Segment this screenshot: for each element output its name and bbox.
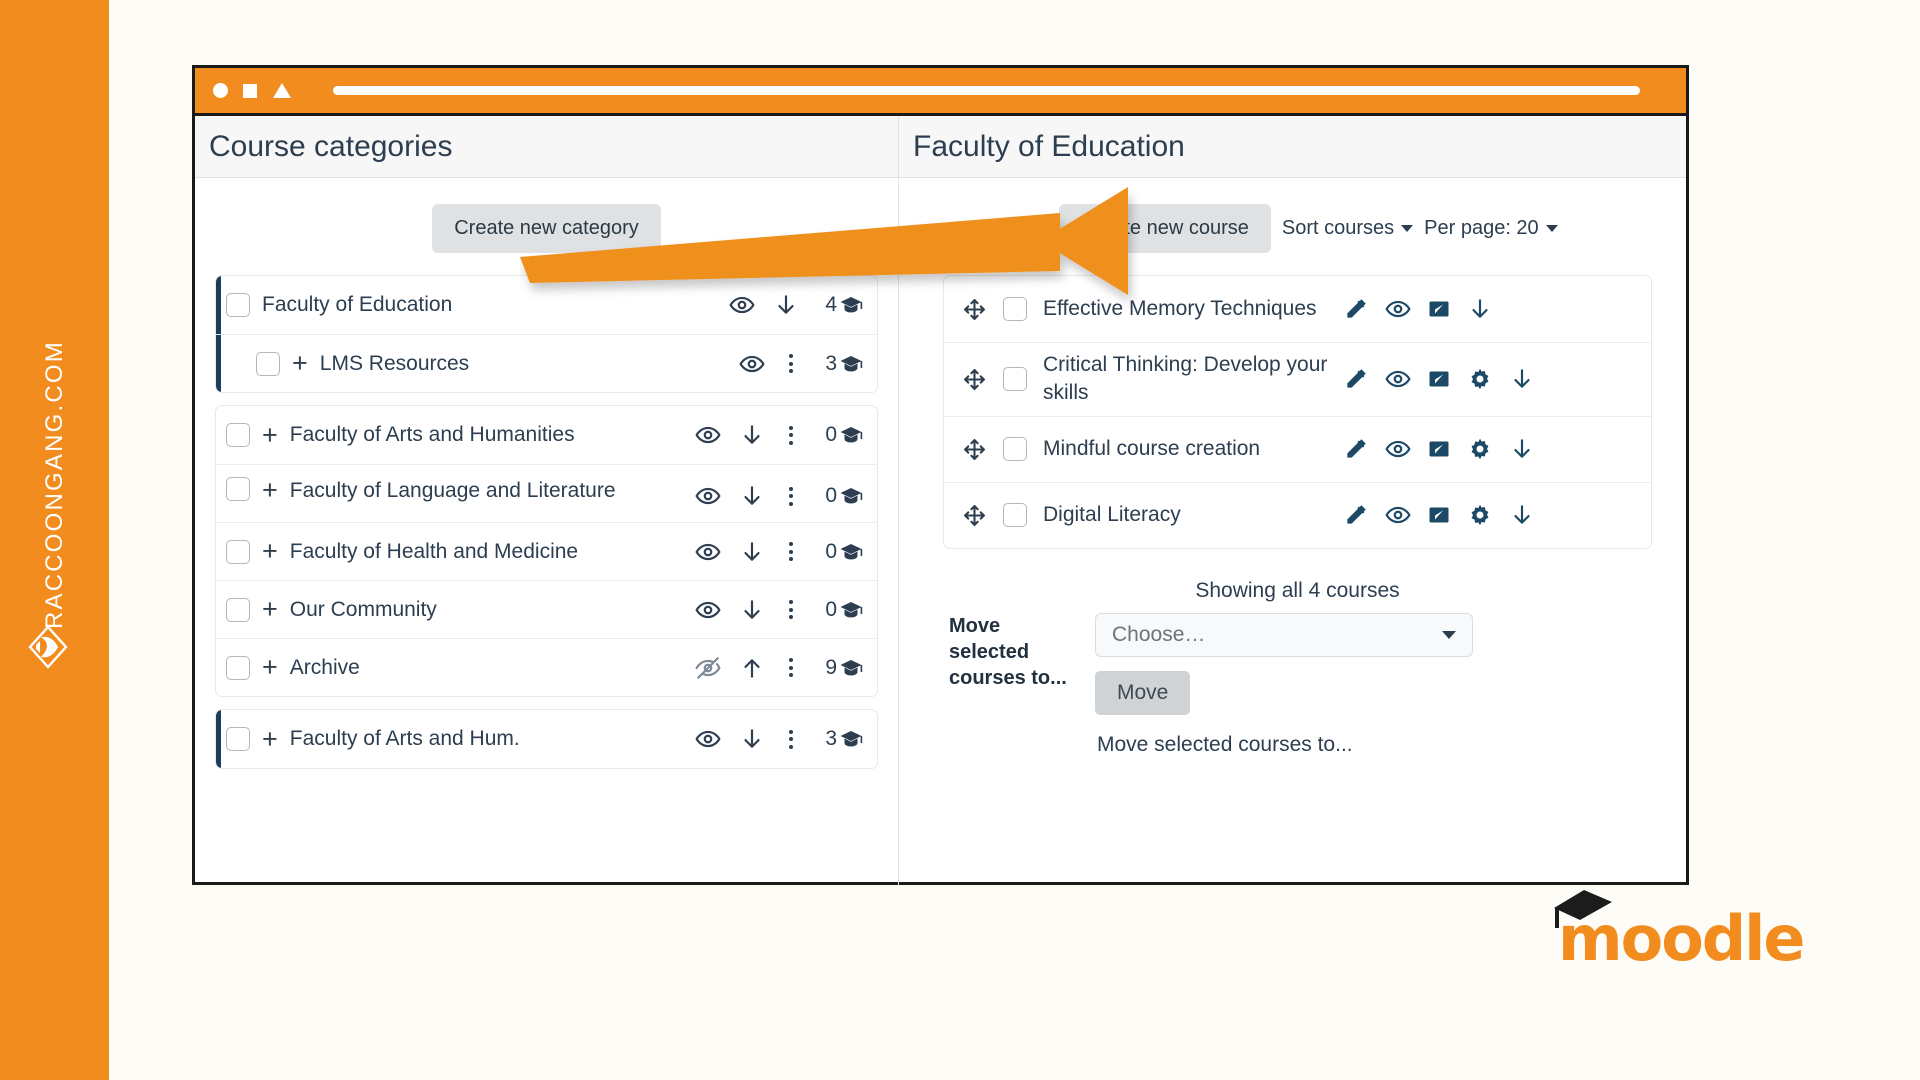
triangle-icon — [273, 83, 291, 98]
move-down-icon[interactable] — [739, 539, 765, 565]
category-checkbox[interactable] — [226, 598, 250, 622]
circle-icon — [213, 83, 228, 98]
move-down-icon[interactable] — [739, 483, 765, 509]
pencil-icon[interactable] — [1343, 296, 1369, 322]
course-row[interactable]: Mindful course creation — [944, 416, 1651, 482]
category-name-label: LMS Resources — [320, 350, 739, 378]
category-actions: 4 — [729, 292, 863, 318]
course-count: 0 — [817, 484, 863, 508]
category-actions: 0 — [695, 422, 863, 448]
category-row[interactable]: +LMS Resources3 — [216, 334, 877, 392]
site-brand-text: RACCOONGANG.COM — [41, 340, 69, 629]
per-page-dropdown[interactable]: Per page: 20 — [1424, 217, 1558, 240]
move-selected-label: Move selected courses to... — [949, 613, 1081, 691]
left-pane-header: Course categories — [195, 116, 898, 178]
expand-icon[interactable]: + — [262, 422, 278, 449]
graduation-cap-icon — [839, 294, 863, 316]
course-count-value: 0 — [825, 540, 837, 564]
more-actions-icon[interactable] — [783, 540, 799, 563]
drag-handle-icon[interactable] — [962, 437, 987, 462]
move-target-value: Choose… — [1112, 623, 1205, 647]
graduation-cap-icon — [839, 424, 863, 446]
course-actions — [1343, 436, 1535, 462]
category-row[interactable]: Faculty of Education4 — [216, 276, 877, 334]
create-new-category-button[interactable]: Create new category — [432, 204, 661, 253]
category-actions: 0 — [695, 597, 863, 623]
course-count: 9 — [817, 656, 863, 680]
eye-icon[interactable] — [1385, 436, 1411, 462]
category-name-label: Faculty of Health and Medicine — [290, 538, 695, 566]
course-row[interactable]: Digital Literacy — [944, 482, 1651, 548]
category-actions: 3 — [695, 726, 863, 752]
eye-icon[interactable] — [695, 422, 721, 448]
category-row[interactable]: +Archive9 — [216, 638, 877, 696]
course-checkbox[interactable] — [1003, 437, 1027, 461]
eye-icon[interactable] — [739, 351, 765, 377]
right-toolbar: Create new course Sort courses Per page:… — [899, 178, 1686, 275]
category-checkbox[interactable] — [226, 727, 250, 751]
square-icon — [243, 84, 257, 98]
right-pane-header: Faculty of Education — [899, 116, 1686, 178]
course-checkbox[interactable] — [1003, 367, 1027, 391]
category-name-label: Faculty of Arts and Hum. — [290, 725, 695, 753]
chevron-down-icon — [1401, 225, 1413, 232]
content-panes: Course categories Create new category Fa… — [195, 116, 1686, 885]
course-actions — [1343, 502, 1535, 528]
expand-icon[interactable]: + — [262, 726, 278, 753]
category-row[interactable]: +Our Community0 — [216, 580, 877, 638]
browser-window: Course categories Create new category Fa… — [192, 65, 1689, 885]
course-actions — [1343, 366, 1535, 392]
chevron-down-icon — [1546, 225, 1558, 232]
diamond-swirl-logo-icon — [28, 625, 68, 669]
expand-icon[interactable]: + — [262, 596, 278, 623]
category-list: Faculty of Education4+LMS Resources3+Fac… — [195, 275, 898, 769]
course-count-value: 0 — [825, 484, 837, 508]
course-count-value: 0 — [825, 423, 837, 447]
eye-icon[interactable] — [1385, 296, 1411, 322]
browser-titlebar — [195, 68, 1686, 116]
duplicate-icon[interactable] — [1427, 297, 1451, 321]
category-checkbox[interactable] — [226, 423, 250, 447]
faculty-courses-pane: Faculty of Education Create new course S… — [899, 116, 1686, 885]
create-new-course-button[interactable]: Create new course — [1059, 204, 1271, 253]
category-checkbox[interactable] — [256, 352, 280, 376]
category-name-label: Faculty of Language and Literature — [290, 477, 695, 505]
per-page-label: Per page: 20 — [1424, 217, 1539, 240]
pencil-icon[interactable] — [1343, 366, 1369, 392]
course-count-value: 3 — [825, 727, 837, 751]
graduation-cap-icon — [839, 657, 863, 679]
eye-icon[interactable] — [695, 483, 721, 509]
pencil-icon[interactable] — [1343, 502, 1369, 528]
course-count: 4 — [817, 293, 863, 317]
eye-icon[interactable] — [1385, 366, 1411, 392]
expand-icon[interactable]: + — [262, 654, 278, 681]
eye-icon[interactable] — [695, 726, 721, 752]
more-actions-icon[interactable] — [783, 728, 799, 751]
drag-handle-icon[interactable] — [962, 367, 987, 392]
eye-icon[interactable] — [1385, 502, 1411, 528]
graduation-cap-icon — [1550, 886, 1614, 932]
sort-courses-label: Sort courses — [1282, 217, 1394, 240]
category-checkbox[interactable] — [226, 477, 250, 501]
move-down-icon[interactable] — [773, 292, 799, 318]
category-group: Faculty of Education4+LMS Resources3 — [215, 275, 878, 393]
course-count: 0 — [817, 540, 863, 564]
course-list: Effective Memory TechniquesCritical Thin… — [943, 275, 1652, 549]
down-arrow-icon[interactable] — [1467, 296, 1493, 322]
more-actions-icon[interactable] — [783, 656, 799, 679]
category-group: +Faculty of Arts and Humanities0+Faculty… — [215, 405, 878, 697]
duplicate-icon[interactable] — [1427, 503, 1451, 527]
expand-icon[interactable]: + — [262, 477, 278, 504]
move-up-icon[interactable] — [739, 655, 765, 681]
showing-count-text: Showing all 4 courses — [943, 579, 1652, 603]
down-arrow-icon[interactable] — [1509, 502, 1535, 528]
move-down-icon[interactable] — [739, 726, 765, 752]
move-down-icon[interactable] — [739, 597, 765, 623]
course-count: 3 — [817, 727, 863, 751]
course-count-value: 3 — [825, 352, 837, 376]
category-group: +Faculty of Arts and Hum.3 — [215, 709, 878, 769]
course-checkbox[interactable] — [1003, 297, 1027, 321]
category-actions: 9 — [695, 655, 863, 681]
course-categories-pane: Course categories Create new category Fa… — [195, 116, 899, 885]
course-row[interactable]: Effective Memory Techniques — [944, 276, 1651, 342]
course-count-value: 0 — [825, 598, 837, 622]
category-name-label: Faculty of Education — [262, 291, 729, 319]
category-title: Faculty of Education — [913, 130, 1185, 164]
category-name-label: Faculty of Arts and Humanities — [290, 421, 695, 449]
graduation-cap-icon — [839, 541, 863, 563]
eye-icon[interactable] — [729, 292, 755, 318]
expand-icon[interactable]: + — [292, 350, 308, 377]
course-count-value: 9 — [825, 656, 837, 680]
move-note-text: Move selected courses to... — [1097, 733, 1652, 757]
move-fields: Choose… Move Move selected courses to... — [1081, 613, 1652, 757]
more-actions-icon[interactable] — [783, 424, 799, 447]
category-name-label: Archive — [290, 654, 695, 682]
more-actions-icon[interactable] — [783, 598, 799, 621]
eye-icon[interactable] — [695, 539, 721, 565]
category-row[interactable]: +Faculty of Health and Medicine0 — [216, 522, 877, 580]
gear-icon[interactable] — [1467, 366, 1493, 392]
graduation-cap-icon — [839, 353, 863, 375]
course-checkbox[interactable] — [1003, 503, 1027, 527]
course-name-label: Effective Memory Techniques — [1043, 295, 1343, 323]
category-checkbox[interactable] — [226, 293, 250, 317]
address-bar[interactable] — [333, 86, 1640, 95]
branding-rail: RACCOONGANG.COM — [0, 0, 109, 1080]
pencil-icon[interactable] — [1343, 436, 1369, 462]
course-name-label: Digital Literacy — [1043, 501, 1343, 529]
category-row[interactable]: +Faculty of Arts and Hum.3 — [216, 710, 877, 768]
down-arrow-icon[interactable] — [1509, 366, 1535, 392]
duplicate-icon[interactable] — [1427, 367, 1451, 391]
course-count: 0 — [817, 423, 863, 447]
chevron-down-icon — [1442, 631, 1456, 639]
category-checkbox[interactable] — [226, 540, 250, 564]
sort-courses-dropdown[interactable]: Sort courses — [1282, 217, 1413, 240]
more-actions-icon[interactable] — [783, 485, 799, 508]
graduation-cap-icon — [839, 728, 863, 750]
page-title: Course categories — [209, 130, 452, 164]
more-actions-icon[interactable] — [783, 352, 799, 375]
course-count: 3 — [817, 352, 863, 376]
graduation-cap-icon — [839, 485, 863, 507]
move-button[interactable]: Move — [1095, 671, 1190, 715]
category-row[interactable]: +Faculty of Language and Literature0 — [216, 464, 877, 522]
category-row[interactable]: +Faculty of Arts and Humanities0 — [216, 406, 877, 464]
expand-icon[interactable]: + — [262, 538, 278, 565]
down-arrow-icon[interactable] — [1509, 436, 1535, 462]
course-actions — [1343, 296, 1493, 322]
eye-icon[interactable] — [695, 597, 721, 623]
category-name-label: Our Community — [290, 596, 695, 624]
course-count: 0 — [817, 598, 863, 622]
course-list-container: Effective Memory TechniquesCritical Thin… — [899, 275, 1686, 757]
course-count-value: 4 — [825, 293, 837, 317]
move-target-select[interactable]: Choose… — [1095, 613, 1473, 657]
gear-icon[interactable] — [1467, 436, 1493, 462]
graduation-cap-icon — [839, 599, 863, 621]
category-checkbox[interactable] — [226, 656, 250, 680]
category-actions: 0 — [695, 483, 863, 509]
move-courses-block: Move selected courses to... Choose… Move… — [943, 613, 1652, 757]
left-toolbar: Create new category — [195, 178, 898, 275]
course-name-label: Mindful course creation — [1043, 435, 1343, 463]
moodle-logo: moodle — [1558, 902, 1803, 975]
category-actions: 3 — [739, 351, 863, 377]
course-row[interactable]: Critical Thinking: Develop your skills — [944, 342, 1651, 416]
drag-handle-icon[interactable] — [962, 297, 987, 322]
category-actions: 0 — [695, 539, 863, 565]
drag-handle-icon[interactable] — [962, 503, 987, 528]
gear-icon[interactable] — [1467, 502, 1493, 528]
duplicate-icon[interactable] — [1427, 437, 1451, 461]
course-name-label: Critical Thinking: Develop your skills — [1043, 351, 1343, 408]
eye-off-icon[interactable] — [695, 655, 721, 681]
move-down-icon[interactable] — [739, 422, 765, 448]
